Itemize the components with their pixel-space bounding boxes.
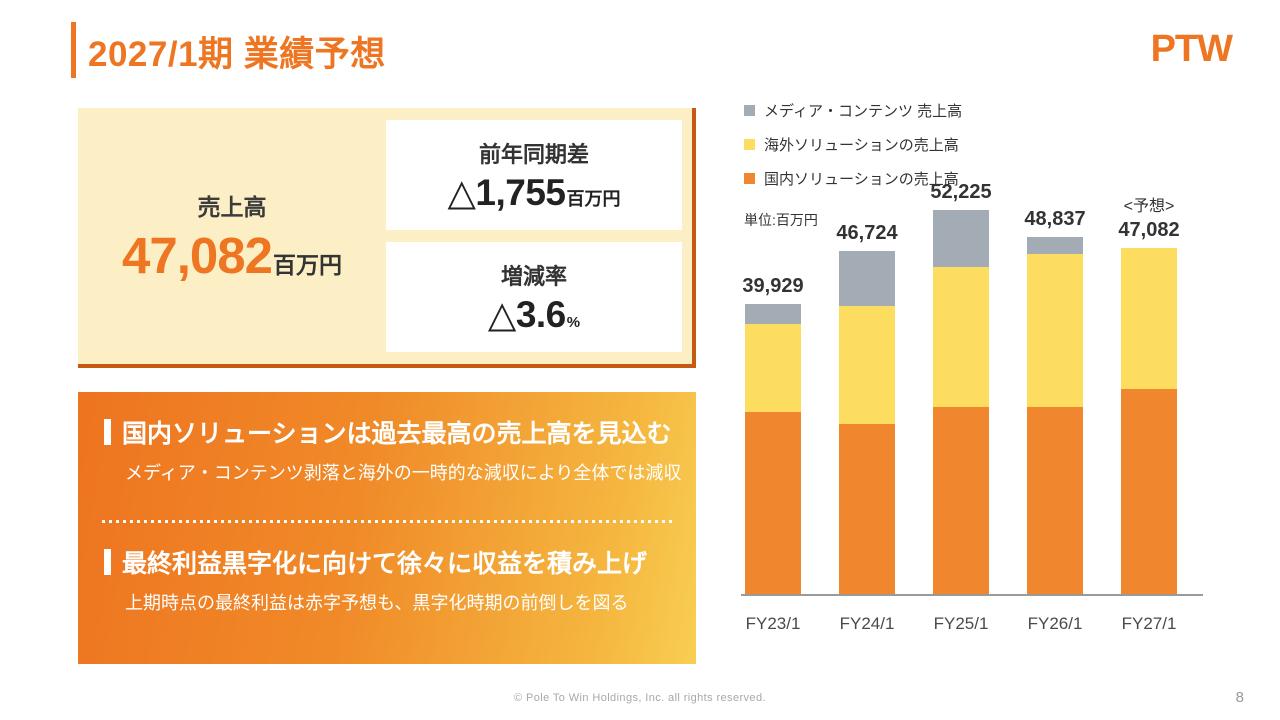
bar-value-label: 52,225 [930,181,991,204]
bar-segment-domestic [839,424,895,594]
kpi-sub-label: 前年同期差 [479,137,589,169]
bar-segment-overseas [1121,248,1177,389]
kpi-card: 売上高 47,082 百万円 前年同期差 △1,755 百万円 増減率 △3.6… [78,108,696,368]
chart-axis-line [741,594,1203,596]
kpi-sub-change-rate: 増減率 △3.6 % [386,242,682,352]
bar-value-label: 47,082 [1118,219,1179,242]
chart-plot: 39,929FY23/146,724FY24/152,225FY25/148,8… [735,248,1205,648]
message-divider [102,520,672,523]
chart-unit-note: 単位:百万円 [744,210,818,230]
bar-value-label: 48,837 [1024,208,1085,231]
bar-group: 47,082<予想>FY27/1 [1121,248,1177,594]
kpi-main-unit: 百万円 [273,246,342,280]
kpi-sub-unit: 百万円 [567,185,621,211]
message-subtext: 上期時点の最終利益は赤字予想も、黒字化時期の前倒しを図る [78,589,696,615]
bar-category-label: FY25/1 [934,614,989,634]
bar-segment-domestic [933,407,989,594]
chart-area: メディア・コンテンツ 売上高 海外ソリューションの売上高 国内ソリューションの売… [735,100,1235,680]
bar-segment-overseas [745,324,801,412]
bar-segment-domestic [745,412,801,594]
bar-category-label: FY24/1 [840,614,895,634]
bar-group: 39,929FY23/1 [745,304,801,594]
bar-category-label: FY26/1 [1028,614,1083,634]
bar-segment-media [745,304,801,324]
bar-stack [745,304,801,594]
legend-item-media: メディア・コンテンツ 売上高 [744,100,962,121]
footer-copyright: © Pole To Win Holdings, Inc. all rights … [0,692,1280,704]
kpi-main: 売上高 47,082 百万円 [78,108,386,364]
kpi-sub-value: △1,755 [447,171,565,214]
bar-category-label: FY23/1 [746,614,801,634]
kpi-sub-value-row: △3.6 % [488,293,580,336]
bar-segment-media [1027,237,1083,254]
message-headline-row: 国内ソリューションは過去最高の売上高を見込む [78,414,696,450]
kpi-sub-value-row: △1,755 百万円 [447,171,620,214]
bar-segment-overseas [933,267,989,407]
bullet-bar-icon [104,419,111,445]
message-subtext: メディア・コンテンツ剥落と海外の一時的な減収により全体では減収 [78,459,696,485]
bar-category-label: FY27/1 [1122,614,1177,634]
kpi-sub-unit: % [567,314,580,331]
message-headline: 国内ソリューションは過去最高の売上高を見込む [122,414,672,450]
bar-segment-overseas [1027,254,1083,407]
legend-swatch-icon [744,139,755,150]
bar-value-label: 46,724 [836,222,897,245]
bar-segment-media [839,251,895,306]
bar-segment-overseas [839,306,895,424]
bar-segment-domestic [1027,407,1083,594]
ptw-logo: PTW [1151,28,1232,71]
chart-legend: メディア・コンテンツ 売上高 海外ソリューションの売上高 国内ソリューションの売… [744,100,962,202]
kpi-sub-label: 増減率 [501,259,567,291]
bar-segment-media [933,210,989,267]
bar-forecast-note: <予想> [1124,192,1175,216]
bar-group: 52,225FY25/1 [933,210,989,594]
page-title: 2027/1期 業績予想 [88,26,386,77]
slide-root: 2027/1期 業績予想 PTW 売上高 47,082 百万円 前年同期差 △1… [0,0,1280,720]
bar-value-label: 39,929 [742,275,803,298]
legend-label: 海外ソリューションの売上高 [764,134,959,155]
kpi-sub-yoy-diff: 前年同期差 △1,755 百万円 [386,120,682,230]
legend-swatch-icon [744,105,755,116]
bar-stack [839,251,895,594]
kpi-main-value-row: 47,082 百万円 [122,226,342,285]
bar-stack [1121,248,1177,594]
kpi-main-label: 売上高 [198,188,267,222]
legend-label: メディア・コンテンツ 売上高 [764,100,962,121]
page-number: 8 [1236,689,1244,706]
legend-item-domestic: 国内ソリューションの売上高 [744,168,962,189]
message-box: 国内ソリューションは過去最高の売上高を見込む メディア・コンテンツ剥落と海外の一… [78,392,696,664]
bar-segment-domestic [1121,389,1177,594]
kpi-sub-value: △3.6 [488,293,566,336]
legend-swatch-icon [744,173,755,184]
bar-stack [1027,237,1083,594]
message-block: 国内ソリューションは過去最高の売上高を見込む メディア・コンテンツ剥落と海外の一… [78,414,696,485]
message-headline: 最終利益黒字化に向けて徐々に収益を積み上げ [122,544,647,580]
legend-item-overseas: 海外ソリューションの売上高 [744,134,962,155]
bar-stack [933,210,989,594]
bar-group: 48,837FY26/1 [1027,237,1083,594]
title-accent-bar [71,22,76,78]
bullet-bar-icon [104,549,111,575]
message-block: 最終利益黒字化に向けて徐々に収益を積み上げ 上期時点の最終利益は赤字予想も、黒字… [78,544,696,615]
kpi-main-value: 47,082 [122,226,272,285]
message-headline-row: 最終利益黒字化に向けて徐々に収益を積み上げ [78,544,696,580]
bar-group: 46,724FY24/1 [839,251,895,594]
